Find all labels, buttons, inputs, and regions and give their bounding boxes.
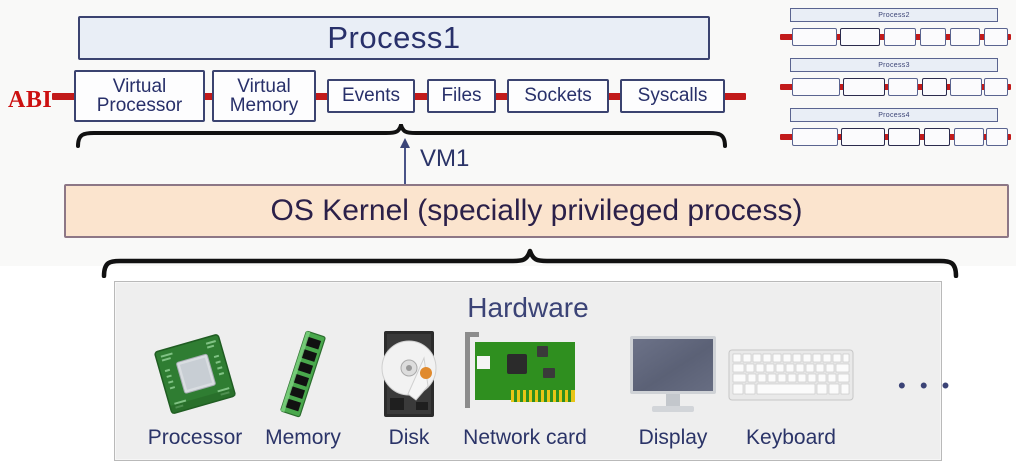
hardware-item-label: Memory <box>265 426 341 450</box>
diagram-canvas: Process1 ABI VirtualProcessorVirtualMemo… <box>0 0 1016 473</box>
mini-box-3[interactable] <box>922 78 947 96</box>
mini-box-5[interactable] <box>984 78 1008 96</box>
hardware-item-keyboard[interactable]: Keyboard <box>725 328 857 452</box>
mini-box-1[interactable] <box>841 128 885 146</box>
hardware-title: Hardware <box>115 292 941 324</box>
mini-box-5[interactable] <box>986 128 1008 146</box>
mini-process-title: Process2 <box>790 8 998 22</box>
hardware-item-display[interactable]: Display <box>607 328 739 452</box>
abi-connector-0 <box>52 93 76 100</box>
abi-label: ABI <box>8 87 52 114</box>
hardware-ellipsis: • • • <box>898 375 953 397</box>
process1-label: Process1 <box>327 20 460 56</box>
keyboard-icon-wrapper <box>725 328 857 420</box>
memory-icon <box>248 328 358 420</box>
mini-box-3[interactable] <box>920 28 946 46</box>
process1-bar: Process1 <box>78 16 710 60</box>
mini-process-group-process4: Process4 <box>778 108 1010 150</box>
mini-box-4[interactable] <box>954 128 984 146</box>
keyboard-icon <box>725 328 857 420</box>
mini-process-title: Process4 <box>790 108 998 122</box>
mini-box-0[interactable] <box>792 28 837 46</box>
abi-box-events[interactable]: Events <box>327 79 415 113</box>
mini-box-0[interactable] <box>792 78 840 96</box>
hardware-brace <box>100 248 960 278</box>
hardware-item-label: Keyboard <box>746 426 836 450</box>
mini-box-4[interactable] <box>950 78 982 96</box>
network-card-icon-wrapper <box>459 328 591 420</box>
display-icon-wrapper <box>607 328 739 420</box>
abi-box-label-line1: Virtual <box>237 77 291 96</box>
abi-box-label-line2: Processor <box>97 96 183 115</box>
mini-box-0[interactable] <box>792 128 838 146</box>
hardware-item-label: Display <box>639 426 708 450</box>
mini-process-group-process3: Process3 <box>778 58 1010 100</box>
mini-box-2[interactable] <box>888 128 920 146</box>
mini-process-row <box>778 78 1010 96</box>
mini-process-group-process2: Process2 <box>778 8 1010 50</box>
os-kernel-label: OS Kernel (specially privileged process) <box>271 194 803 228</box>
hardware-panel: Hardware Pro <box>114 281 942 461</box>
abi-box-virtual-processor[interactable]: VirtualProcessor <box>74 70 205 122</box>
mini-process-row <box>778 128 1010 146</box>
disk-icon <box>354 328 464 420</box>
abi-box-virtual-memory[interactable]: VirtualMemory <box>212 70 316 122</box>
mini-box-2[interactable] <box>888 78 918 96</box>
mini-box-3[interactable] <box>924 128 950 146</box>
vm1-label: VM1 <box>420 145 469 173</box>
abi-box-label: Files <box>441 86 481 105</box>
display-icon <box>618 328 728 420</box>
abi-box-label: Sockets <box>524 86 592 105</box>
hardware-item-network-card[interactable]: Network card <box>459 328 591 452</box>
abi-box-label-line2: Memory <box>230 96 299 115</box>
disk-icon-wrapper <box>343 328 475 420</box>
mini-box-5[interactable] <box>984 28 1008 46</box>
hardware-item-label: Disk <box>389 426 430 450</box>
hardware-item-label: Processor <box>148 426 243 450</box>
processor-icon <box>140 328 250 420</box>
mini-box-1[interactable] <box>843 78 885 96</box>
mini-box-1[interactable] <box>840 28 880 46</box>
network-card-icon <box>459 328 591 420</box>
abi-box-label: Events <box>342 86 400 105</box>
abi-box-label-line1: Virtual <box>113 77 167 96</box>
abi-connector-6 <box>722 93 746 100</box>
mini-box-2[interactable] <box>884 28 916 46</box>
abi-box-sockets[interactable]: Sockets <box>507 79 609 113</box>
mini-box-4[interactable] <box>950 28 980 46</box>
mini-process-title: Process3 <box>790 58 998 72</box>
mini-process-stacks: Process2Process3Process4 <box>778 0 1016 160</box>
abi-box-files[interactable]: Files <box>427 79 496 113</box>
os-kernel-bar: OS Kernel (specially privileged process) <box>64 184 1009 238</box>
hardware-item-disk[interactable]: Disk <box>343 328 475 452</box>
abi-box-label: Syscalls <box>638 86 708 105</box>
abi-box-syscalls[interactable]: Syscalls <box>620 79 725 113</box>
mini-process-row <box>778 28 1010 46</box>
hardware-item-label: Network card <box>463 426 587 450</box>
vm1-arrow-icon <box>398 138 412 186</box>
